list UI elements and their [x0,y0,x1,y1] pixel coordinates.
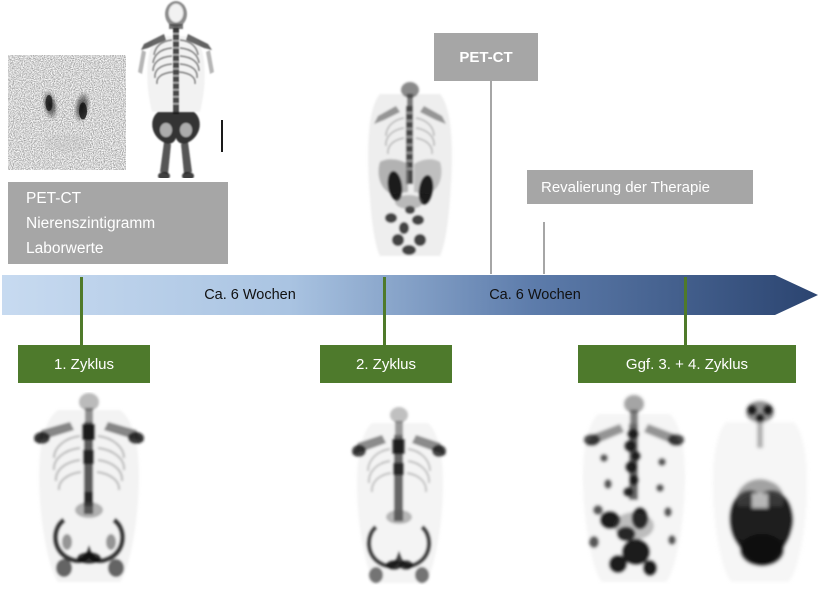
cycle-2-label: 2. Zyklus [356,356,416,373]
cycle-box-3[interactable]: Ggf. 3. + 4. Zyklus [578,345,796,383]
connector-line-cycle-3 [684,277,687,349]
whole-body-bone-scan-baseline [128,0,224,178]
timeline-interval-1-label: Ca. 6 Wochen [120,275,380,315]
callout-line-nierenszintigramm: Nierenszintigramm [26,211,228,236]
pet-scan-after-cycle-1 [12,392,166,584]
callout-label-petct: PET-CT [459,45,512,70]
callout-label-revaluation: Revalierung der Therapie [541,175,753,200]
cycle-box-2[interactable]: 2. Zyklus [320,345,452,383]
connector-line-petct [490,81,492,274]
callout-line-petct: PET-CT [26,186,228,211]
cycle-box-1[interactable]: 1. Zyklus [18,345,150,383]
callout-therapy-revaluation[interactable]: Revalierung der Therapie [527,170,753,204]
connector-line-revaluation [543,222,545,274]
connector-line-cycle-1 [80,277,83,349]
diagram-canvas: PET-CT Nierenszintigramm Laborwerte PET-… [0,0,829,605]
pet-scan-after-cycle-4 [700,398,820,584]
scan-scale-marker [221,120,223,152]
pet-scan-after-cycle-3 [568,392,700,584]
renal-scintigram-scan [8,55,126,170]
timeline-interval-2-label: Ca. 6 Wochen [400,275,670,315]
callout-pre-therapy-workup[interactable]: PET-CT Nierenszintigramm Laborwerte [8,182,228,264]
cycle-3-label: Ggf. 3. + 4. Zyklus [626,356,748,373]
pet-scan-after-cycle-2 [334,405,464,585]
callout-interim-petct[interactable]: PET-CT [434,33,538,81]
cycle-1-label: 1. Zyklus [54,356,114,373]
callout-line-laborwerte: Laborwerte [26,236,228,261]
pet-ct-interim-scan [358,78,462,260]
connector-line-cycle-2 [383,277,386,349]
